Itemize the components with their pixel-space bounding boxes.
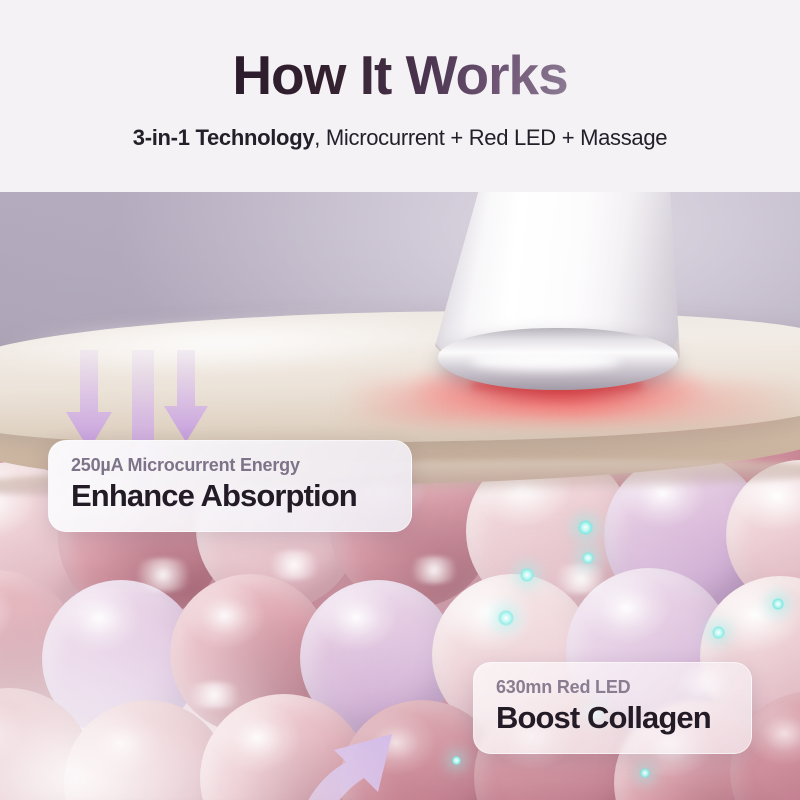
microcurrent-arrow-down xyxy=(164,350,208,448)
subtitle-bold-part: 3-in-1 Technology xyxy=(133,125,315,150)
callout-card-collagen[interactable]: 630mn Red LED Boost Collagen xyxy=(473,662,752,754)
energy-sparkle xyxy=(640,768,650,778)
callout-eyebrow-absorption: 250µA Microcurrent Energy xyxy=(71,455,389,476)
facial-device xyxy=(430,192,690,398)
sphere-highlight xyxy=(262,550,326,580)
energy-sparkle xyxy=(578,520,593,535)
energy-sparkle xyxy=(520,568,534,582)
energy-sparkle xyxy=(582,552,594,564)
callout-headline-absorption: Enhance Absorption xyxy=(71,478,389,515)
massage-arrow-up xyxy=(292,730,404,800)
sphere-highlight xyxy=(180,682,248,708)
energy-sparkle xyxy=(452,756,461,765)
energy-sparkle xyxy=(712,626,725,639)
energy-sparkle xyxy=(498,610,514,626)
callout-headline-collagen: Boost Collagen xyxy=(496,700,729,737)
header: How It Works 3-in-1 Technology, Microcur… xyxy=(0,0,800,192)
page-title: How It Works xyxy=(232,47,567,105)
callout-eyebrow-collagen: 630mn Red LED xyxy=(496,677,729,698)
subtitle-rest-part: , Microcurrent + Red LED + Massage xyxy=(314,125,667,150)
sphere-highlight xyxy=(548,564,614,594)
sphere-highlight xyxy=(128,558,198,592)
illustration-stage: 250µA Microcurrent Energy Enhance Absorp… xyxy=(0,192,800,800)
sphere-highlight xyxy=(404,556,464,584)
page-subtitle: 3-in-1 Technology, Microcurrent + Red LE… xyxy=(133,125,667,151)
energy-sparkle xyxy=(772,598,784,610)
how-it-works-infographic: How It Works 3-in-1 Technology, Microcur… xyxy=(0,0,800,800)
device-ring-highlight xyxy=(470,352,620,370)
callout-card-absorption[interactable]: 250µA Microcurrent Energy Enhance Absorp… xyxy=(48,440,412,532)
